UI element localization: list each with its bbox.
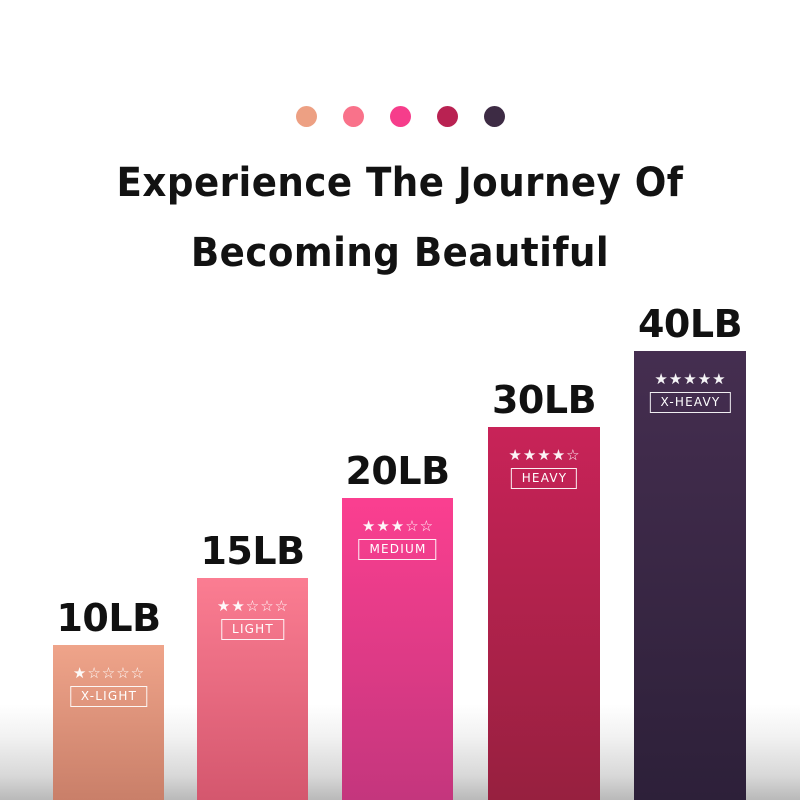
star-filled-icon: ★ <box>523 448 536 463</box>
star-filled-icon: ★ <box>231 599 244 614</box>
star-filled-icon: ★ <box>698 372 711 387</box>
star-filled-icon: ★ <box>73 666 86 681</box>
grade-badge-medium: MEDIUM <box>358 539 436 560</box>
bar-value-label-30lb: 30LB <box>492 381 596 419</box>
bar-group-10lb[interactable]: 10LB★☆☆☆☆X-LIGHT <box>53 645 164 800</box>
grade-badge-light: LIGHT <box>221 619 284 640</box>
star-filled-icon: ★ <box>712 372 725 387</box>
resistance-bar-chart: 10LB★☆☆☆☆X-LIGHT15LB★★☆☆☆LIGHT20LB★★★☆☆M… <box>0 0 800 800</box>
star-filled-icon: ★ <box>376 519 389 534</box>
star-filled-icon: ★ <box>669 372 682 387</box>
bar-group-15lb[interactable]: 15LB★★☆☆☆LIGHT <box>197 578 308 800</box>
star-filled-icon: ★ <box>537 448 550 463</box>
bar-badge-30lb: ★★★★☆HEAVY <box>496 448 592 489</box>
star-rating-20lb: ★★★☆☆ <box>362 519 433 534</box>
star-filled-icon: ★ <box>217 599 230 614</box>
product-poster: Experience The Journey Of Becoming Beaut… <box>0 0 800 800</box>
grade-badge-x-light: X-LIGHT <box>70 686 147 707</box>
bar-40lb[interactable] <box>634 351 746 800</box>
star-rating-30lb: ★★★★☆ <box>508 448 579 463</box>
star-rating-15lb: ★★☆☆☆ <box>217 599 288 614</box>
bar-badge-40lb: ★★★★★X-HEAVY <box>642 372 738 413</box>
bar-badge-15lb: ★★☆☆☆LIGHT <box>205 599 300 640</box>
star-empty-icon: ☆ <box>131 666 144 681</box>
star-empty-icon: ☆ <box>420 519 433 534</box>
bar-value-label-15lb: 15LB <box>200 532 304 570</box>
star-empty-icon: ☆ <box>246 599 259 614</box>
bar-badge-20lb: ★★★☆☆MEDIUM <box>350 519 445 560</box>
bar-group-30lb[interactable]: 30LB★★★★☆HEAVY <box>488 427 600 800</box>
star-filled-icon: ★ <box>508 448 521 463</box>
bar-value-label-40lb: 40LB <box>638 305 742 343</box>
star-empty-icon: ☆ <box>566 448 579 463</box>
bar-group-20lb[interactable]: 20LB★★★☆☆MEDIUM <box>342 498 453 800</box>
star-empty-icon: ☆ <box>102 666 115 681</box>
star-filled-icon: ★ <box>552 448 565 463</box>
star-empty-icon: ☆ <box>87 666 100 681</box>
grade-badge-heavy: HEAVY <box>511 468 578 489</box>
star-rating-40lb: ★★★★★ <box>654 372 725 387</box>
bar-group-40lb[interactable]: 40LB★★★★★X-HEAVY <box>634 351 746 800</box>
star-filled-icon: ★ <box>654 372 667 387</box>
bar-value-label-10lb: 10LB <box>56 599 160 637</box>
star-filled-icon: ★ <box>362 519 375 534</box>
grade-badge-x-heavy: X-HEAVY <box>650 392 731 413</box>
star-rating-10lb: ★☆☆☆☆ <box>73 666 144 681</box>
bar-badge-10lb: ★☆☆☆☆X-LIGHT <box>61 666 156 707</box>
star-filled-icon: ★ <box>683 372 696 387</box>
bar-value-label-20lb: 20LB <box>345 452 449 490</box>
star-filled-icon: ★ <box>391 519 404 534</box>
star-empty-icon: ☆ <box>116 666 129 681</box>
star-empty-icon: ☆ <box>260 599 273 614</box>
star-empty-icon: ☆ <box>405 519 418 534</box>
star-empty-icon: ☆ <box>275 599 288 614</box>
